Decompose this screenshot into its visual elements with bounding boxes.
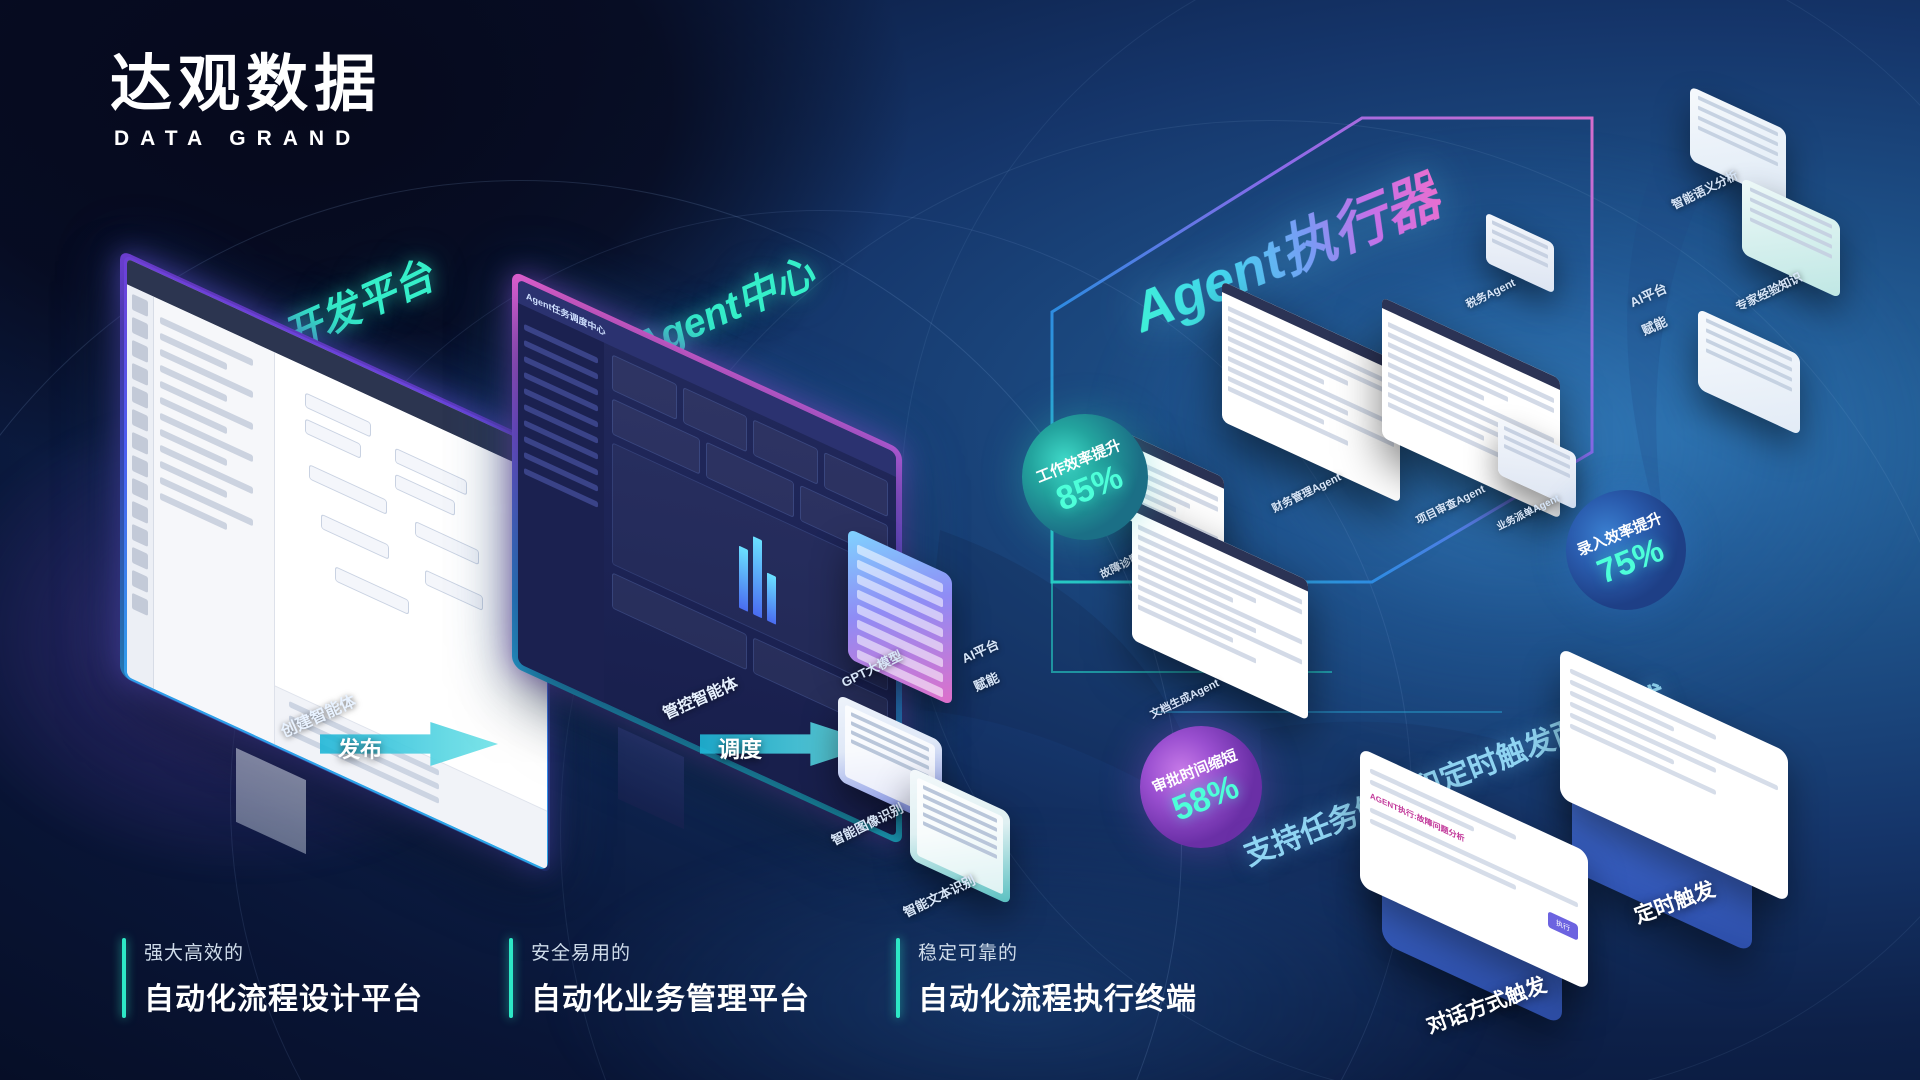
- caption-accent-bar: [509, 938, 513, 1018]
- caption-item-execution-terminal: 稳定可靠的 自动化流程执行终端: [896, 938, 1283, 1018]
- brand-name-cn: 达观数据: [110, 52, 382, 117]
- caption-item-design-platform: 强大高效的 自动化流程设计平台: [122, 938, 509, 1018]
- bottom-captions: 强大高效的 自动化流程设计平台 安全易用的 自动化业务管理平台 稳定可靠的 自动…: [122, 938, 1283, 1018]
- flow-arrow-publish-label: 发布: [338, 732, 382, 764]
- caption-accent-bar: [122, 938, 126, 1018]
- trigger-execute-button[interactable]: 执行: [1548, 911, 1578, 941]
- caption-accent-bar: [896, 938, 900, 1018]
- flow-arrow-schedule-label: 调度: [718, 732, 762, 764]
- brand-name-en: DATA GRAND: [114, 127, 382, 151]
- caption-main: 自动化业务管理平台: [531, 974, 810, 1018]
- brand-logo: 达观数据 DATA GRAND: [110, 52, 382, 151]
- caption-main: 自动化流程设计平台: [144, 974, 423, 1018]
- caption-sub: 强大高效的: [144, 938, 423, 965]
- caption-sub: 安全易用的: [531, 938, 810, 965]
- multi-agent-sidebar[interactable]: [518, 303, 604, 727]
- bar-chart: [739, 530, 776, 625]
- tool-rail[interactable]: [127, 284, 154, 688]
- caption-main: 自动化流程执行终端: [918, 974, 1197, 1018]
- caption-sub: 稳定可靠的: [918, 938, 1197, 965]
- node-palette[interactable]: [154, 297, 275, 745]
- infographic-canvas: 达观数据 DATA GRAND Agent开发平台: [0, 0, 1920, 1080]
- caption-item-business-platform: 安全易用的 自动化业务管理平台: [509, 938, 896, 1018]
